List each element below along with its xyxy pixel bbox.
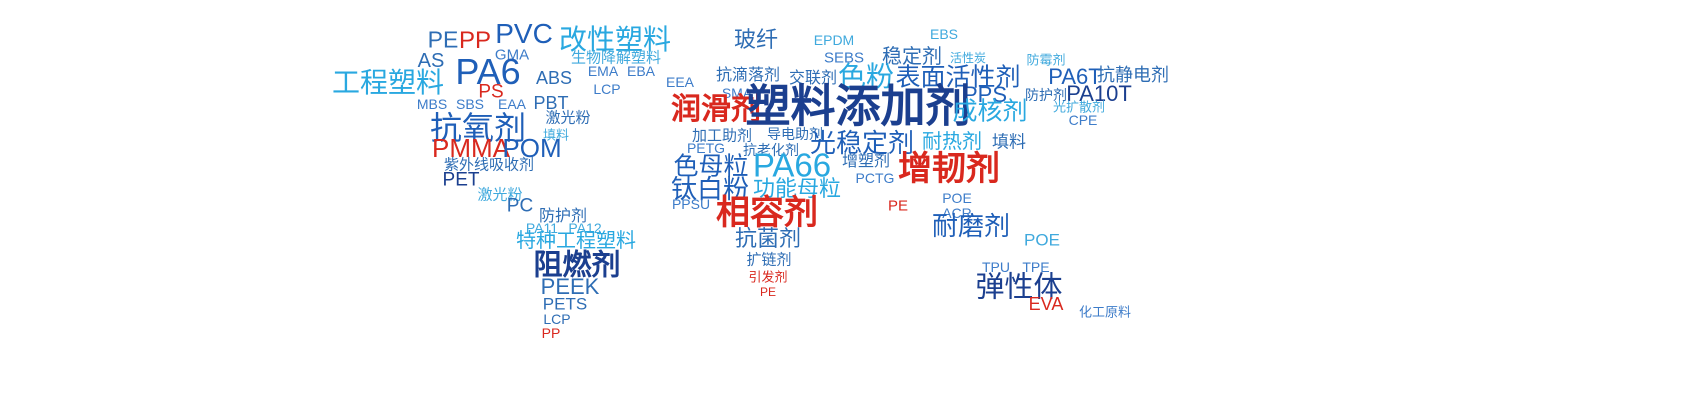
wordcloud-term[interactable]: 塑料添加剂 (745, 84, 970, 129)
wordcloud-term[interactable]: 增塑剂 (842, 154, 890, 170)
wordcloud-term[interactable]: 化工原料 (1079, 306, 1131, 319)
wordcloud-term[interactable]: 特种工程塑料 (516, 231, 636, 251)
wordcloud-term[interactable]: EBA (627, 64, 655, 78)
wordcloud-term[interactable]: EVA (1029, 295, 1064, 313)
wordcloud-term[interactable]: 抗菌剂 (735, 228, 801, 250)
wordcloud-term[interactable]: ABS (536, 69, 572, 87)
wordcloud-term[interactable]: PP (542, 326, 561, 340)
wordcloud-term[interactable]: PP (459, 29, 491, 53)
wordcloud-term[interactable]: PCTG (856, 171, 895, 185)
wordcloud-term[interactable]: 填料 (992, 134, 1026, 151)
wordcloud-canvas: PEPPPVCGMA改性塑料玻纤EPDMEBSAS生物降解塑料SEBS稳定剂活性… (0, 0, 1707, 400)
wordcloud-term[interactable]: EEA (666, 75, 694, 89)
wordcloud-term[interactable]: LCP (543, 312, 570, 326)
wordcloud-term[interactable]: SBS (456, 97, 484, 111)
wordcloud-term[interactable]: CPE (1069, 113, 1098, 127)
wordcloud-term[interactable]: PVC (495, 20, 553, 48)
wordcloud-term[interactable]: PE (760, 286, 776, 298)
wordcloud-term[interactable]: 增韧剂 (898, 152, 1000, 186)
wordcloud-term[interactable]: 耐磨剂 (932, 213, 1010, 239)
wordcloud-term[interactable]: PETS (543, 296, 587, 313)
wordcloud-term[interactable]: 激光粉 (545, 111, 590, 126)
wordcloud-term[interactable]: PE (888, 199, 908, 214)
wordcloud-term[interactable]: POE (1024, 232, 1060, 249)
wordcloud-term[interactable]: 扩链剂 (746, 253, 791, 268)
wordcloud-term[interactable]: PPSU (672, 197, 710, 211)
wordcloud-term[interactable]: 成核剂 (952, 100, 1027, 125)
wordcloud-term[interactable]: LCP (593, 82, 620, 96)
wordcloud-term[interactable]: PC (507, 197, 533, 216)
wordcloud-term[interactable]: 引发剂 (748, 271, 787, 284)
wordcloud-term[interactable]: EMA (588, 64, 618, 78)
wordcloud-term[interactable]: 耐热剂 (922, 132, 982, 152)
wordcloud-term[interactable]: EBS (930, 27, 958, 41)
wordcloud-term[interactable]: POE (942, 191, 972, 205)
wordcloud-term[interactable]: EAA (498, 97, 526, 111)
wordcloud-term[interactable]: 活性炭 (950, 52, 986, 64)
wordcloud-term[interactable]: PET (443, 171, 480, 190)
wordcloud-term[interactable]: PE (428, 29, 459, 52)
wordcloud-term[interactable]: EPDM (814, 33, 854, 47)
wordcloud-term[interactable]: 玻纤 (734, 29, 778, 51)
wordcloud-term[interactable]: 相容剂 (716, 196, 818, 230)
wordcloud-term[interactable]: MBS (417, 97, 447, 111)
wordcloud-term[interactable]: 工程塑料 (332, 69, 444, 97)
